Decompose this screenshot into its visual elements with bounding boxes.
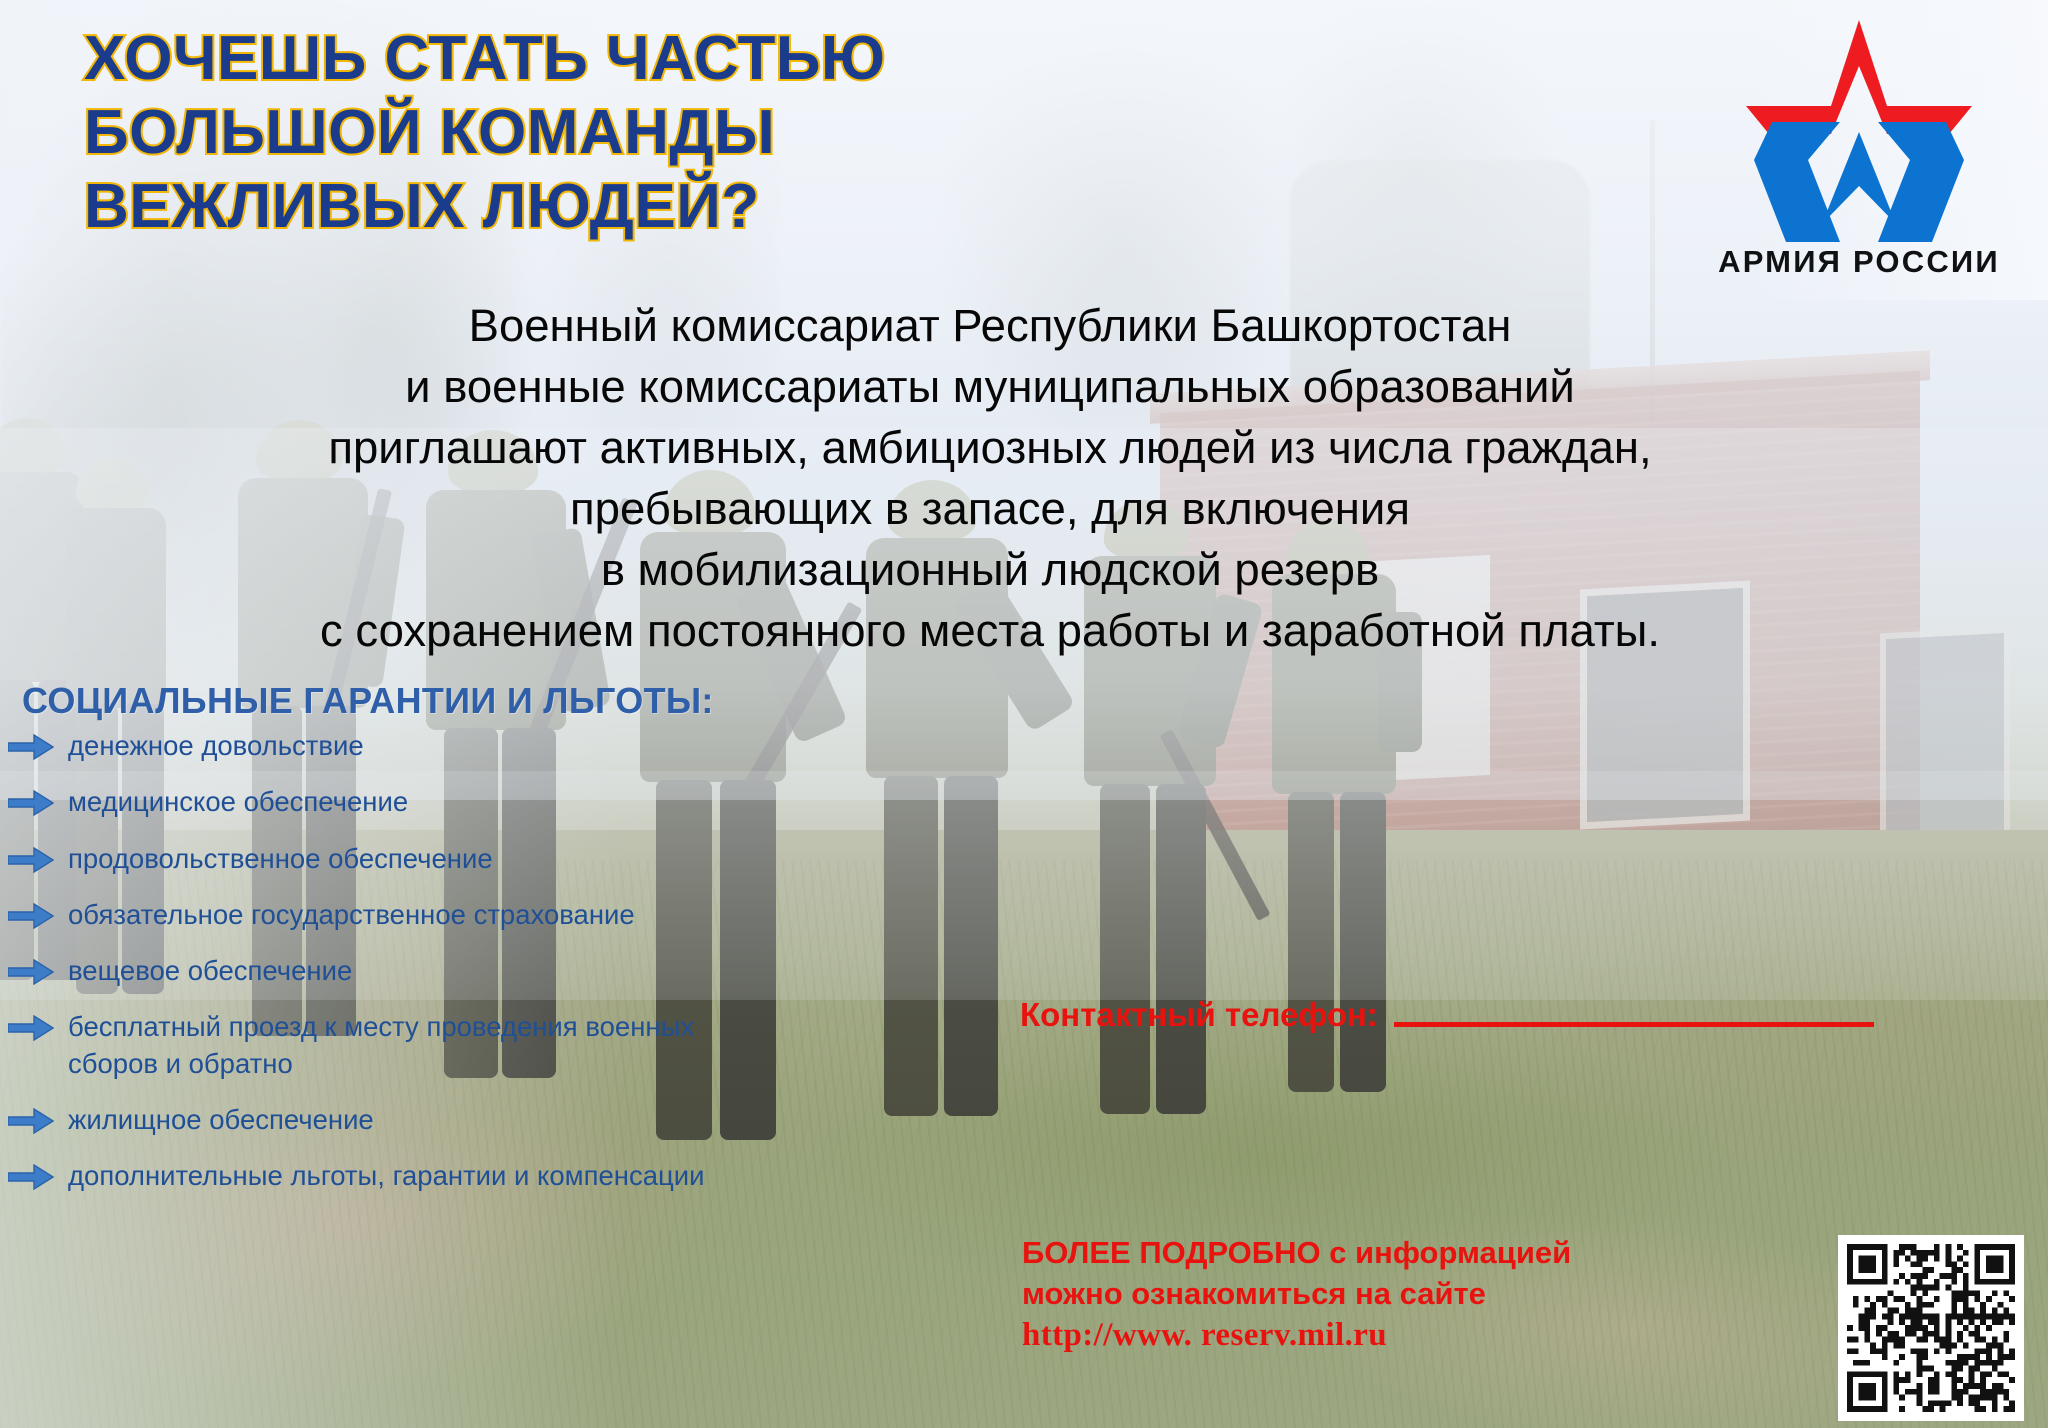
list-item: денежное довольствие (8, 728, 748, 764)
more-info-line-2: можно ознакомиться на сайте (1022, 1273, 1571, 1314)
more-info-block: БОЛЕЕ ПОДРОБНО с информацией можно ознак… (1022, 1232, 1571, 1358)
benefit-label: денежное довольствие (68, 728, 364, 764)
benefit-label: дополнительные льготы, гарантии и компен… (68, 1158, 704, 1194)
body-line-4: пребывающих в запасе, для включения (40, 479, 1940, 540)
list-item: продовольственное обеспечение (8, 841, 748, 877)
more-info-line-1: БОЛЕЕ ПОДРОБНО с информацией (1022, 1232, 1571, 1273)
benefit-label: обязательное государственное страхование (68, 897, 635, 933)
contact-phone-blank-line[interactable] (1394, 1022, 1874, 1027)
army-logo: АРМИЯ РОССИИ (1694, 14, 2024, 280)
headline-line-3: ВЕЖЛИВЫХ ЛЮДЕЙ? (84, 170, 1274, 244)
benefits-list: денежное довольствие медицинское обеспеч… (8, 728, 748, 1215)
benefit-label: жилищное обеспечение (68, 1102, 374, 1138)
benefit-label: продовольственное обеспечение (68, 841, 493, 877)
body-line-5: в мобилизационный людской резерв (40, 540, 1940, 601)
list-item: дополнительные льготы, гарантии и компен… (8, 1158, 748, 1194)
benefits-heading: СОЦИАЛЬНЫЕ ГАРАНТИИ И ЛЬГОТЫ: (22, 680, 714, 722)
contact-phone: Контактный телефон: (1020, 996, 1874, 1034)
benefit-label: медицинское обеспечение (68, 784, 408, 820)
list-item: вещевое обеспечение (8, 953, 748, 989)
army-logo-text: АРМИЯ РОССИИ (1694, 244, 2024, 280)
list-item: медицинское обеспечение (8, 784, 748, 820)
arrow-right-icon (8, 903, 54, 929)
website-url[interactable]: http://www. reserv.mil.ru (1022, 1314, 1571, 1358)
arrow-right-icon (8, 1108, 54, 1134)
page-title: ХОЧЕШЬ СТАТЬ ЧАСТЬЮ БОЛЬШОЙ КОМАНДЫ ВЕЖЛ… (84, 22, 1274, 243)
list-item: жилищное обеспечение (8, 1102, 748, 1138)
body-line-6: с сохранением постоянного места работы и… (40, 601, 1940, 662)
army-star-icon (1694, 14, 2024, 242)
headline-line-2: БОЛЬШОЙ КОМАНДЫ (84, 96, 1274, 170)
more-info-rest: с информацией (1321, 1235, 1572, 1270)
body-line-1: Военный комиссариат Республики Башкортос… (40, 296, 1940, 357)
benefit-label: бесплатный проезд к месту проведения вое… (68, 1009, 708, 1082)
headline-line-1: ХОЧЕШЬ СТАТЬ ЧАСТЬЮ (84, 22, 1274, 96)
qr-code-icon[interactable] (1838, 1235, 2024, 1421)
contact-phone-label: Контактный телефон: (1020, 996, 1378, 1034)
arrow-right-icon (8, 1164, 54, 1190)
list-item: обязательное государственное страхование (8, 897, 748, 933)
benefit-label: вещевое обеспечение (68, 953, 352, 989)
arrow-right-icon (8, 1015, 54, 1041)
body-line-3: приглашают активных, амбициозных людей и… (40, 418, 1940, 479)
body-line-2: и военные комиссариаты муниципальных обр… (40, 357, 1940, 418)
more-info-emphasis: БОЛЕЕ ПОДРОБНО (1022, 1235, 1321, 1270)
arrow-right-icon (8, 959, 54, 985)
arrow-right-icon (8, 734, 54, 760)
qr-code-canvas (1847, 1244, 2015, 1412)
body-paragraph: Военный комиссариат Республики Башкортос… (40, 296, 1940, 662)
arrow-right-icon (8, 790, 54, 816)
list-item: бесплатный проезд к месту проведения вое… (8, 1009, 748, 1082)
arrow-right-icon (8, 847, 54, 873)
recruitment-poster: ХОЧЕШЬ СТАТЬ ЧАСТЬЮ БОЛЬШОЙ КОМАНДЫ ВЕЖЛ… (0, 0, 2048, 1428)
